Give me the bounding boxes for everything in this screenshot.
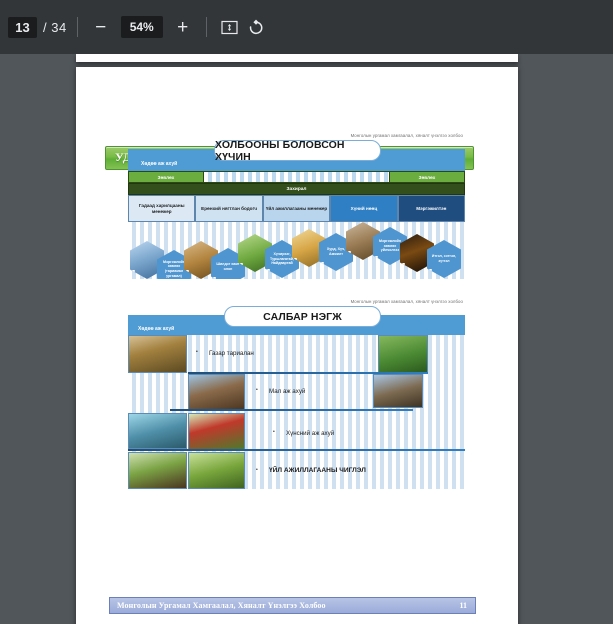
advisor-left-label: Зөвлөх <box>158 175 175 180</box>
slide1-header-note: Монголын ургамал хамгаалал, хяналт үнэлг… <box>351 133 463 138</box>
zoom-in-button[interactable]: + <box>170 14 196 40</box>
combine-harvester-photo <box>128 335 187 373</box>
footer-page-number: 11 <box>459 601 467 610</box>
hex-dot <box>213 277 216 280</box>
row-bullet: • <box>273 429 275 435</box>
field-marker-post-photo <box>128 452 187 489</box>
list-item: • Мал аж ахуй <box>128 373 465 411</box>
staff-cell: Гадаад харилцааны менежер <box>128 195 195 222</box>
advisor-right-label: Зөвлөх <box>419 175 436 180</box>
hex-dot <box>267 269 270 272</box>
young-crop-photo <box>188 452 245 489</box>
staff-label: Гадаад харилцааны менежер <box>131 203 192 215</box>
cattle-pasture-photo <box>373 374 423 408</box>
slide1-body: Хөдөө аж ахуй ХОЛБООНЫ БОЛОВСОН ХҮЧИН Зө… <box>128 140 465 279</box>
slide2-band-label: Хөдөө аж ахуй <box>138 326 174 332</box>
slide-boloвson-huchin: Монголын ургамал хамгаалал, хяналт үнэлг… <box>128 133 465 279</box>
greenhouse-photo <box>128 413 187 449</box>
pdf-page: УДИРДЛАГА, ЗОХИОН БАЙГУУЛАЛТ Монголын ур… <box>76 67 518 624</box>
zoom-out-button[interactable]: − <box>88 14 114 40</box>
staff-row: Гадаад харилцааны менежер Ерөнхий нягтла… <box>128 195 465 222</box>
list-item: • ҮЙЛ АЖИЛЛАГААНЫ ЧИГЛЭЛ <box>128 450 465 489</box>
staff-label: Хүний нөөц <box>351 206 378 212</box>
staff-cell: Үйл ажиллагааны менежер <box>263 195 330 222</box>
row-bullet: • <box>196 349 198 355</box>
row-label: Хүнсний аж ахуй <box>286 430 334 437</box>
list-item: • Хүнсний аж ахуй <box>128 411 465 450</box>
footer-text: Монголын Ургамал Хамгаалал, Хяналт Үнэлг… <box>117 601 326 610</box>
strawberry-greenhouse-photo <box>188 413 245 450</box>
hex-dot <box>132 270 135 273</box>
row-label: Газар тариалан <box>209 350 254 357</box>
slide2-title-text: САЛБАР НЭГЖ <box>263 311 342 323</box>
page-number-input[interactable]: 13 <box>8 17 37 38</box>
staff-cell: Ерөнхий нягтлан бодогч <box>195 195 262 222</box>
slide-footer-bar: Монголын Ургамал Хамгаалал, Хяналт Үнэлг… <box>109 597 476 614</box>
previous-page-sliver <box>76 54 518 62</box>
row-bullet: • <box>256 467 258 473</box>
slide1-band-label: Хөдөө аж ахуй <box>141 161 177 167</box>
list-item: • Газар тариалан <box>128 335 465 373</box>
rotate-icon[interactable] <box>243 14 269 40</box>
advisor-cell-right: Зөвлөх <box>389 171 465 183</box>
sheep-herd-photo <box>188 374 245 411</box>
slide2-rows: • Газар тариалан • Мал аж ахуй <box>128 335 465 489</box>
slide2-header-note: Монголын ургамал хамгаалал, хяналт үнэлг… <box>351 299 463 304</box>
advisor-row-gap <box>204 171 389 183</box>
staff-cell: Мэргэжилтэн <box>398 195 465 222</box>
slide-salbar-negj: Монголын ургамал хамгаалал, хяналт үнэлг… <box>128 299 465 489</box>
total-pages-label: / 34 <box>43 20 67 35</box>
slide1-title-pill: ХОЛБООНЫ БОЛОВСОН ХҮЧИН <box>214 140 381 161</box>
slide2-title-pill: САЛБАР НЭГЖ <box>224 306 381 327</box>
staff-label: Ерөнхий нягтлан бодогч <box>201 206 257 212</box>
fit-page-icon[interactable] <box>217 14 243 40</box>
row-label: ҮЙЛ АЖИЛЛАГААНЫ ЧИГЛЭЛ <box>269 467 366 474</box>
advisor-row: Зөвлөх Зөвлөх <box>128 171 465 183</box>
slide2-body: Хөдөө аж ахуй САЛБАР НЭГЖ • Газар тариал… <box>128 306 465 489</box>
toolbar-divider-1 <box>77 17 78 37</box>
pdf-toolbar: 13 / 34 − 54% + <box>0 0 613 54</box>
hex-dot <box>321 262 324 265</box>
hexagon-label: Итгэл, сэтгэл, зүтгэл <box>427 254 461 263</box>
hex-dot <box>429 269 432 272</box>
toolbar-divider-2 <box>206 17 207 37</box>
hexagon-label: Шилдэг хамт олон <box>211 262 245 271</box>
advisor-cell-left: Зөвлөх <box>128 171 204 183</box>
aerial-circle-field-photo <box>378 335 428 373</box>
row-bullet: • <box>256 387 258 393</box>
director-row: Захирал <box>128 183 465 195</box>
row-label: Мал аж ахуй <box>269 388 305 395</box>
slide1-title-text: ХОЛБООНЫ БОЛОВСОН ХҮЧИН <box>215 139 380 163</box>
hex-dot <box>375 256 378 259</box>
hexagon-chain: Мэргэжлийн зөвлөх (тариамал ургамал) Шил… <box>128 222 465 279</box>
pdf-viewer[interactable]: УДИРДЛАГА, ЗОХИОН БАЙГУУЛАЛТ Монголын ур… <box>0 54 613 624</box>
staff-label: Мэргэжилтэн <box>416 206 446 212</box>
zoom-level-display[interactable]: 54% <box>121 16 163 38</box>
staff-cell: Хүний нөөц <box>330 195 397 222</box>
hex-dot <box>402 263 405 266</box>
director-label: Захирал <box>287 187 307 192</box>
hex-dot <box>159 279 162 280</box>
staff-label: Үйл ажиллагааны менежер <box>266 206 327 212</box>
